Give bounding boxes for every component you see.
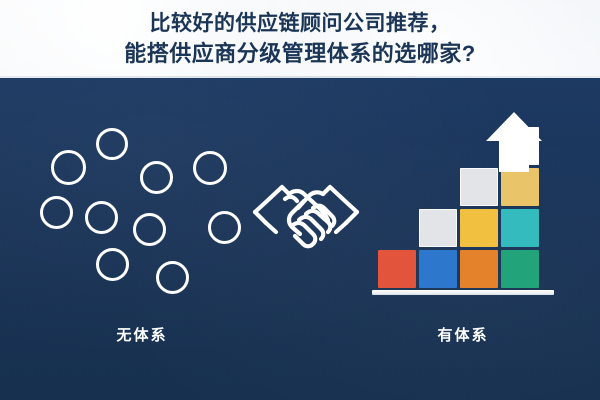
chart-block xyxy=(460,250,498,288)
chart-block xyxy=(460,168,498,206)
circle-node xyxy=(140,161,173,194)
chart-block xyxy=(501,168,539,206)
chart-block xyxy=(501,209,539,247)
chart-block xyxy=(460,209,498,247)
page-title-line-1: 比较好的供应链顾问公司推荐， xyxy=(150,10,451,38)
circle-node xyxy=(193,151,227,185)
arrow-up-icon xyxy=(484,110,544,172)
caption-no-system: 无体系 xyxy=(72,324,212,345)
handshake-icon xyxy=(252,168,360,258)
header-banner: 比较好的供应链顾问公司推荐， 能搭供应商分级管理体系的选哪家? xyxy=(0,0,600,78)
chart-block xyxy=(419,209,457,247)
caption-with-system: 有体系 xyxy=(393,324,533,345)
circle-node xyxy=(208,211,241,244)
circle-node xyxy=(40,196,73,229)
chart-baseline xyxy=(372,290,554,295)
circle-node xyxy=(133,213,166,246)
chart-block xyxy=(501,250,539,288)
poster-root: 比较好的供应链顾问公司推荐， 能搭供应商分级管理体系的选哪家? xyxy=(0,0,600,400)
chart-block xyxy=(378,250,416,288)
scattered-circles-group xyxy=(40,118,250,278)
circle-node xyxy=(96,128,128,160)
page-title-line-2: 能搭供应商分级管理体系的选哪家? xyxy=(124,39,475,68)
circle-node xyxy=(156,261,189,294)
chart-block xyxy=(419,250,457,288)
circle-node xyxy=(51,150,86,185)
circle-node xyxy=(96,248,129,281)
circle-node xyxy=(85,201,118,234)
illustration-stage: 无体系 有体系 xyxy=(0,78,600,400)
